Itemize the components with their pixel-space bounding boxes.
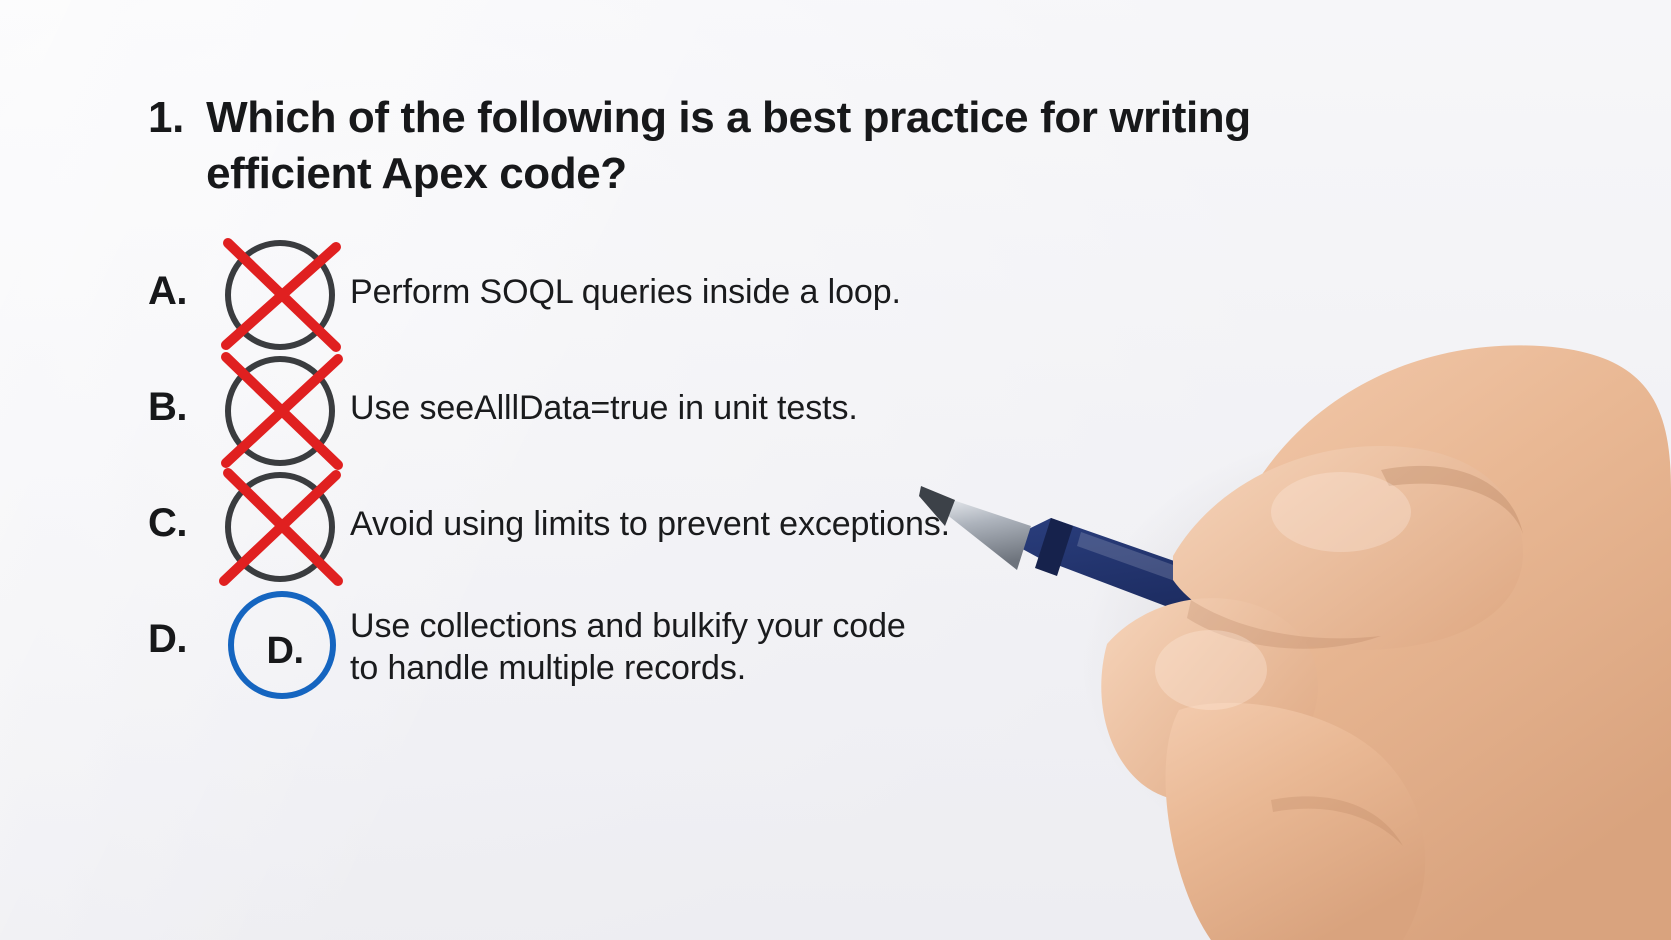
option-row-b[interactable]: B. Use seeAlllData=true in unit tests. [148,359,1148,475]
question-block: 1. Which of the following is a best prac… [148,90,1328,203]
option-mark-a[interactable] [220,243,350,359]
option-letter-a: A. [148,243,220,314]
index-finger [1173,446,1523,650]
option-row-a[interactable]: A. Perform SOQL queries inside a loop. [148,243,1148,359]
option-mark-b[interactable] [220,359,350,475]
option-text-b: Use seeAlllData=true in unit tests. [350,359,1148,429]
crossed-out-circle-icon [218,235,352,359]
crossed-out-circle-icon [218,467,352,591]
question-text: Which of the following is a best practic… [206,90,1296,203]
option-row-c[interactable]: C. Avoid using limits to prevent excepti… [148,475,1148,591]
option-row-d[interactable]: D. D. Use collections and bulkify your c… [148,591,1148,711]
option-text-d: Use collections and bulkify your code to… [350,591,1148,689]
hand-back [1164,345,1671,940]
option-letter-d: D. [148,591,220,662]
hand-shadow [1081,430,1671,890]
worksheet-page: 1. Which of the following is a best prac… [0,0,1671,940]
option-mark-d[interactable]: D. [220,591,350,707]
options-list: A. Perform SOQL queries inside a loop. B… [148,243,1148,711]
option-text-a: Perform SOQL queries inside a loop. [350,243,1148,313]
crossed-out-circle-icon [218,351,352,475]
option-mark-c[interactable] [220,475,350,591]
middle-finger [1166,703,1426,940]
selected-answer-label: D. [220,591,350,707]
question-number: 1. [148,90,184,146]
option-text-c: Avoid using limits to prevent exceptions… [350,475,1148,545]
option-letter-c: C. [148,475,220,546]
option-letter-b: B. [148,359,220,430]
